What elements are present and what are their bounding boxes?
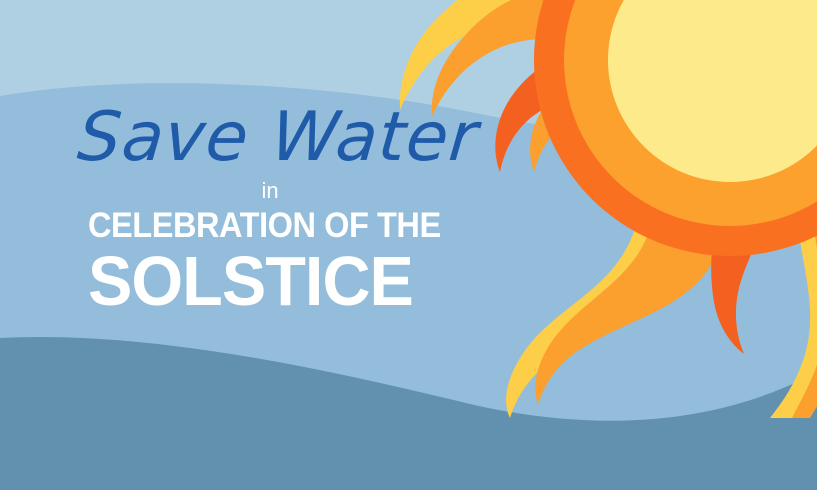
- sun-icon: [398, 0, 817, 418]
- poster-canvas: Save Water in CELEBRATION OF THE SOLSTIC…: [0, 0, 817, 490]
